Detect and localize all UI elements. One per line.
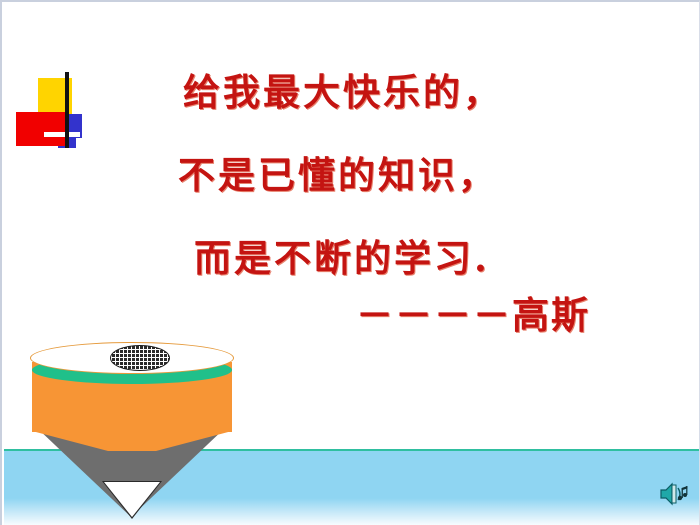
sound-icon-svg[interactable] xyxy=(659,481,689,507)
sound-icon[interactable] xyxy=(659,481,689,507)
mesh-sieve-disc xyxy=(110,345,170,371)
quote-line-3: 而是不断的学习. xyxy=(0,236,700,281)
quote-line-1: 给我最大快乐的， xyxy=(0,70,700,115)
filter-funnel-beaker-illustration xyxy=(16,339,246,517)
quote-attribution: －－－－高斯 xyxy=(2,293,700,337)
quote-line-2: 不是已懂的知识， xyxy=(0,153,700,198)
slide-canvas: 给我最大快乐的， 不是已懂的知识， 而是不断的学习. －－－－高斯 xyxy=(0,0,700,525)
quote-block: 给我最大快乐的， 不是已懂的知识， 而是不断的学习. －－－－高斯 xyxy=(2,62,700,337)
